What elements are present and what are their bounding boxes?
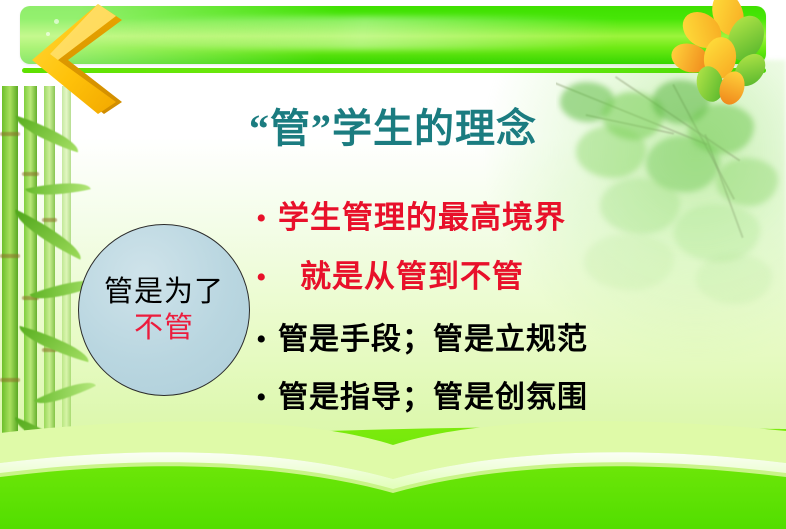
- bullet-list: • 学生管理的最高境界 • 就是从管到不管 • 管是手段；管是立规范 • 管是指…: [256, 192, 726, 416]
- list-item: • 管是指导；管是创氛围: [256, 372, 726, 416]
- list-item: • 学生管理的最高境界: [256, 192, 726, 237]
- highlight-circle: 管是为了 不管: [78, 224, 250, 396]
- circle-line-2: 不管: [134, 312, 194, 344]
- wave-shape-icon: [0, 419, 786, 529]
- page-title: “管”学生的理念: [0, 96, 786, 154]
- list-item-label: 就是从管到不管: [278, 251, 524, 296]
- list-item: • 就是从管到不管: [256, 251, 726, 296]
- circle-line-1: 管是为了: [104, 276, 224, 308]
- list-item-label: 学生管理的最高境界: [278, 192, 566, 237]
- bullet-marker-icon: •: [256, 325, 278, 355]
- leaf-cluster-icon: [666, 0, 786, 106]
- list-item-label: 管是手段；管是立规范: [278, 314, 588, 358]
- bullet-marker-icon: •: [256, 383, 278, 413]
- bullet-marker-icon: •: [256, 204, 278, 234]
- bullet-marker-icon: •: [256, 263, 278, 293]
- list-item: • 管是手段；管是立规范: [256, 314, 726, 358]
- presentation-slide: “管”学生的理念 管是为了 不管 • 学生管理的最高境界 • 就是从管到不管 •…: [0, 0, 786, 529]
- list-item-label: 管是指导；管是创氛围: [278, 372, 588, 416]
